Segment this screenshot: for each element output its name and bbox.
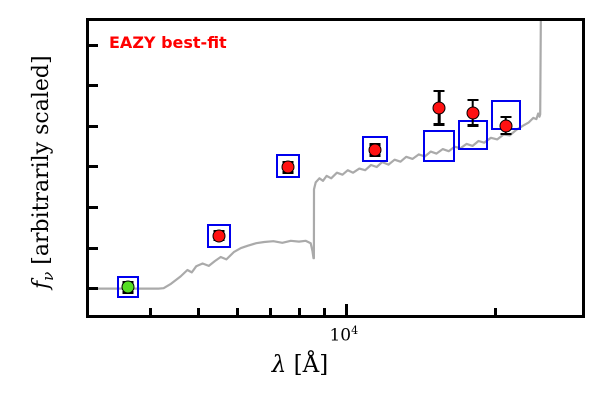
photometry-point [212, 229, 225, 242]
error-cap-upper [500, 116, 511, 119]
x-minor-tick-mark [236, 308, 239, 315]
x-minor-tick-mark [323, 308, 326, 315]
photometry-point [282, 161, 295, 174]
y-tick-mark [89, 44, 98, 47]
plot-frame: EAZY best-fit [86, 18, 585, 318]
x-minor-tick-mark [149, 308, 152, 315]
photometry-point [466, 106, 479, 119]
best-fit-spectrum-line [89, 21, 582, 315]
error-cap-lower [500, 133, 511, 136]
y-axis-symbol: f [29, 281, 54, 289]
x-tick-label-base: 10 [329, 326, 351, 346]
x-axis-symbol: λ [272, 352, 287, 378]
x-tick-label: 104 [329, 324, 358, 346]
error-cap-lower [434, 123, 445, 126]
y-tick-mark [89, 84, 98, 87]
model-photometry-square [423, 130, 455, 162]
y-tick-mark [89, 247, 98, 250]
photometry-point [368, 143, 381, 156]
y-tick-mark [89, 206, 98, 209]
error-cap-upper [434, 90, 445, 93]
y-axis-subscript: ν [39, 272, 57, 281]
y-tick-mark [89, 287, 98, 290]
x-minor-tick-mark [298, 308, 301, 315]
error-cap-upper [467, 99, 478, 102]
y-axis-title: fν [arbitrarily scaled] [29, 7, 57, 337]
x-major-tick-mark [345, 304, 348, 315]
photometry-point [433, 101, 446, 114]
y-tick-mark [89, 125, 98, 128]
x-minor-tick-mark [197, 308, 200, 315]
x-axis-title: λ [Å] [0, 352, 600, 378]
y-tick-mark [89, 165, 98, 168]
photometry-point [122, 281, 135, 294]
error-cap-lower [467, 124, 478, 127]
x-minor-tick-mark [269, 308, 272, 315]
x-minor-tick-mark [494, 308, 497, 315]
photometry-point [499, 119, 512, 132]
annotation-eazy-best-fit: EAZY best-fit [109, 33, 227, 52]
y-axis-unit: [arbitrarily scaled] [29, 55, 54, 264]
plot-clip-region: EAZY best-fit [89, 21, 582, 315]
x-axis-unit: [Å] [294, 352, 329, 378]
x-tick-label-exponent: 4 [351, 324, 358, 337]
figure-canvas: 0.00.10.20.30.40.50.6 fν [arbitrarily sc… [0, 0, 600, 400]
